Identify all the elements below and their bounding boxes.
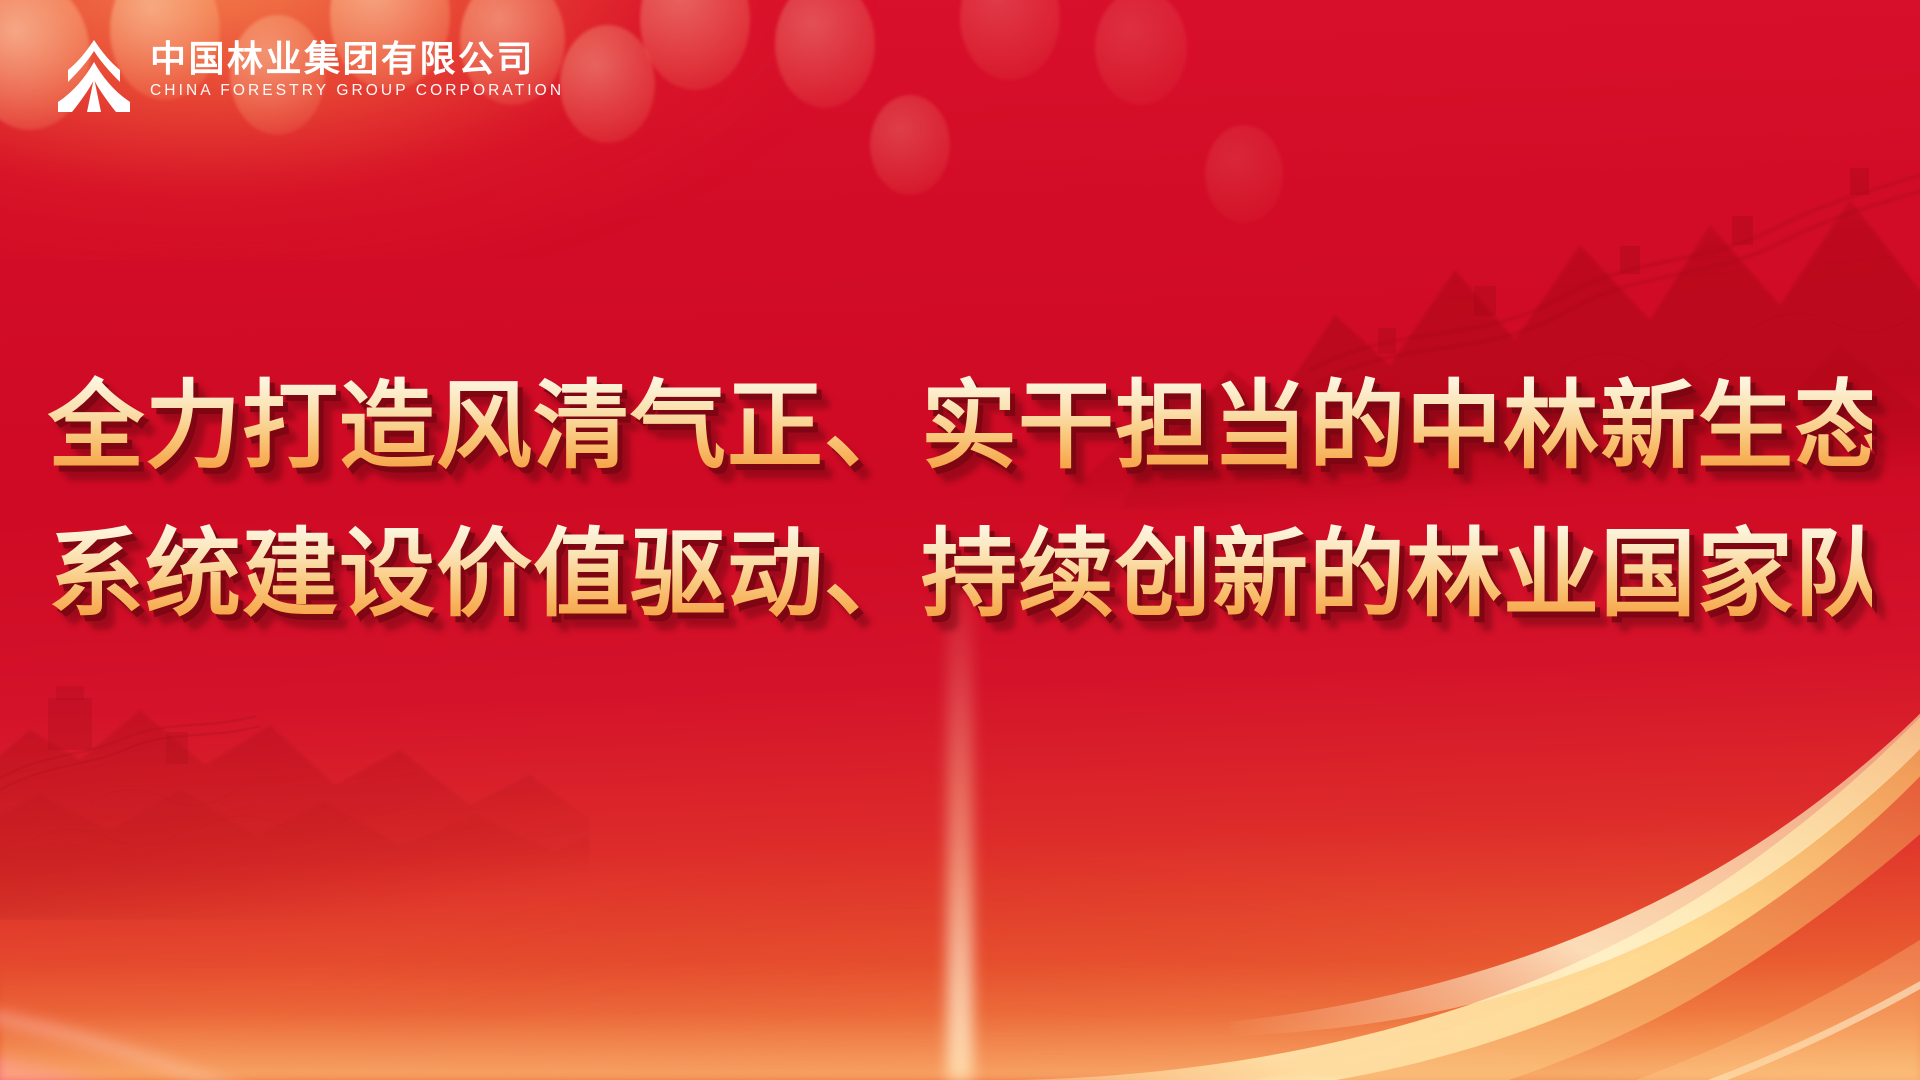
forestry-tree-logo-icon <box>56 38 132 112</box>
bokeh-circle <box>560 25 655 143</box>
company-name-cn: 中国林业集团有限公司 <box>150 40 564 78</box>
bokeh-circle <box>1205 125 1283 223</box>
slogan-line-2: 系统建设价值驱动、持续创新的林业国家队 <box>48 500 1872 648</box>
slogan-headline: 全力打造风清气正、实干担当的中林新生态 系统建设价值驱动、持续创新的林业国家队 <box>0 352 1920 648</box>
bokeh-circle <box>870 95 950 195</box>
slogan-banner: 中国林业集团有限公司 CHINA FORESTRY GROUP CORPORAT… <box>0 0 1920 1080</box>
company-logo[interactable]: 中国林业集团有限公司 CHINA FORESTRY GROUP CORPORAT… <box>56 36 564 112</box>
bottom-edge-glow <box>0 960 1920 1080</box>
slogan-line-1: 全力打造风清气正、实干担当的中林新生态 <box>48 352 1872 500</box>
bokeh-circle <box>1095 0 1187 105</box>
company-name-en: CHINA FORESTRY GROUP CORPORATION <box>150 82 564 99</box>
